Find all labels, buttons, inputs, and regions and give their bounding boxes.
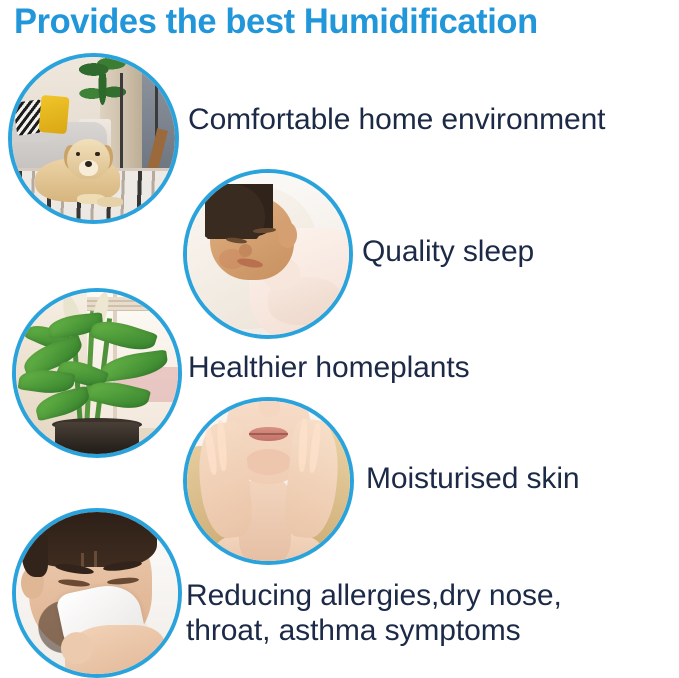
nose-layer — [259, 401, 280, 417]
scene-man-blowing-nose — [16, 512, 178, 674]
plant-pot-layer — [55, 422, 139, 454]
scene-living-room — [12, 57, 175, 220]
benefit-caption-quality-sleep: Quality sleep — [362, 235, 534, 269]
forehead-wrinkle-layer — [81, 553, 84, 568]
benefit-image-quality-sleep — [183, 169, 353, 339]
sideburn-layer — [22, 535, 48, 577]
page-title: Provides the best Humidification — [14, 2, 664, 42]
benefit-image-moisturised-skin — [183, 397, 354, 565]
benefit-caption-comfortable-home-environment: Comfortable home environment — [188, 103, 605, 137]
benefit-caption-moisturised-skin: Moisturised skin — [366, 462, 579, 496]
humidifier-benefits-infographic: Provides the best Humidification — [0, 0, 679, 678]
baby-ear-layer — [278, 222, 297, 248]
benefit-image-healthier-homeplants — [12, 288, 182, 458]
yellow-pillow-layer — [38, 95, 69, 135]
lip-line-layer — [249, 433, 288, 435]
scene-woman-skin — [187, 401, 350, 561]
dog-nose-layer — [85, 161, 92, 167]
baby-nose-layer — [239, 244, 252, 257]
benefit-image-comfortable-home-environment — [8, 53, 179, 224]
scene-sleeping-baby — [187, 173, 349, 335]
benefit-image-reducing-allergies — [12, 508, 182, 678]
dog-paw-layer — [97, 197, 123, 207]
benefit-caption-healthier-homeplants: Healthier homeplants — [188, 351, 470, 385]
forehead-wrinkle-layer — [94, 551, 97, 567]
chin-layer — [246, 449, 292, 475]
benefit-caption-reducing-allergies: Reducing allergies,dry nose, throat, ast… — [186, 578, 562, 648]
scene-houseplant — [16, 292, 178, 454]
